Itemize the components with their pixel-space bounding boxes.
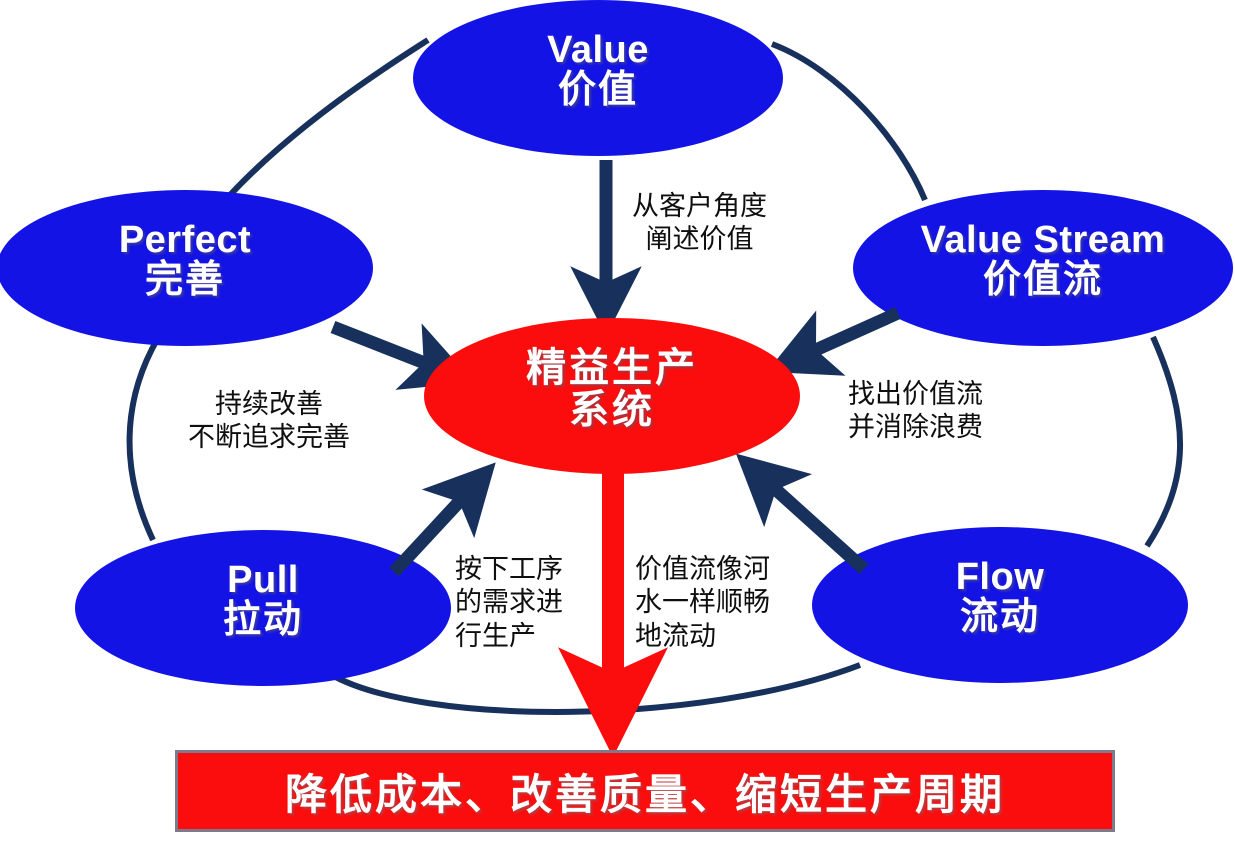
node-ellipse-value <box>413 0 783 156</box>
diagram-canvas <box>0 0 1235 844</box>
result-banner: 降低成本、改善质量、缩短生产周期 <box>175 750 1115 832</box>
arrow-flow-to-center <box>763 478 864 569</box>
arrow-valuestream-to-center <box>800 313 898 357</box>
edge-note-pull: 按下工序 的需求进 行生产 <box>455 553 563 653</box>
edge-note-flow: 价值流像河 水一样顺畅 地流动 <box>635 553 770 653</box>
node-ellipse-value-stream <box>853 190 1233 346</box>
edge-note-value-stream: 找出价值流 并消除浪费 <box>848 378 983 445</box>
lean-production-diagram: Value 价值 Value Stream 价值流 Flow 流动 Pull 拉… <box>0 0 1235 844</box>
node-ellipse-flow <box>812 527 1188 683</box>
connector-pull-perfect <box>130 338 158 540</box>
connector-value-valuestream <box>772 44 925 200</box>
node-ellipse-pull <box>75 530 451 686</box>
connector-flow-pull <box>330 665 860 712</box>
node-ellipse-lean-system <box>424 318 800 474</box>
connector-valuestream-flow <box>1147 337 1180 546</box>
edge-note-perfect: 持续改善 不断追求完善 <box>188 388 350 455</box>
result-banner-text: 降低成本、改善质量、缩短生产周期 <box>285 761 1005 822</box>
arrow-perfect-to-center <box>333 327 440 369</box>
edge-note-value: 从客户角度 阐述价值 <box>632 190 767 257</box>
connector-perfect-value <box>230 40 428 195</box>
node-ellipse-perfect <box>0 190 373 346</box>
